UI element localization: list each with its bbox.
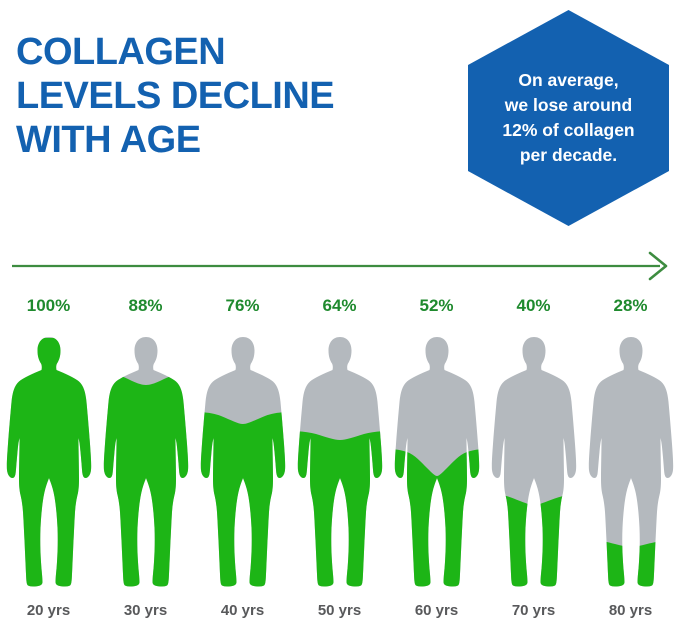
age-label: 60 yrs bbox=[415, 602, 458, 620]
age-label: 50 yrs bbox=[318, 602, 361, 620]
figure-column: 64% 50 yrs bbox=[291, 296, 388, 628]
body-icon bbox=[391, 334, 483, 590]
age-label: 20 yrs bbox=[27, 602, 70, 620]
title-line-3: WITH AGE bbox=[16, 118, 446, 162]
body-silhouette bbox=[488, 334, 580, 590]
age-label: 30 yrs bbox=[124, 602, 167, 620]
title-line-1: COLLAGEN bbox=[16, 30, 446, 74]
age-label: 70 yrs bbox=[512, 602, 555, 620]
figure-column: 76% 40 yrs bbox=[194, 296, 291, 628]
figure-column: 40% 70 yrs bbox=[485, 296, 582, 628]
title-line-2: LEVELS DECLINE bbox=[16, 74, 446, 118]
age-label: 40 yrs bbox=[221, 602, 264, 620]
percent-label: 40% bbox=[516, 296, 550, 318]
body-icon bbox=[3, 334, 95, 590]
percent-label: 76% bbox=[225, 296, 259, 318]
figure-column: 100% 20 yrs bbox=[0, 296, 97, 628]
body-icon bbox=[197, 334, 289, 590]
figure-column: 52% 60 yrs bbox=[388, 296, 485, 628]
age-label: 80 yrs bbox=[609, 602, 652, 620]
body-silhouette bbox=[391, 334, 483, 590]
percent-label: 28% bbox=[613, 296, 647, 318]
body-silhouette bbox=[585, 334, 677, 590]
body-icon bbox=[100, 334, 192, 590]
percent-label: 64% bbox=[322, 296, 356, 318]
page-title: COLLAGEN LEVELS DECLINE WITH AGE bbox=[16, 30, 446, 162]
body-icon bbox=[585, 334, 677, 590]
body-silhouette bbox=[3, 334, 95, 590]
hexagon-icon bbox=[466, 8, 671, 228]
percent-label: 88% bbox=[128, 296, 162, 318]
fact-badge: On average, we lose around 12% of collag… bbox=[466, 8, 671, 228]
figure-column: 28% 80 yrs bbox=[582, 296, 679, 628]
percent-label: 52% bbox=[419, 296, 453, 318]
age-progression-arrow-icon bbox=[10, 248, 670, 284]
body-silhouette bbox=[197, 334, 289, 590]
body-silhouette bbox=[294, 334, 386, 590]
body-silhouette bbox=[100, 334, 192, 590]
body-icon bbox=[294, 334, 386, 590]
body-icon bbox=[488, 334, 580, 590]
percent-label: 100% bbox=[27, 296, 70, 318]
collagen-figure-series: 100% 20 yrs 88% bbox=[0, 296, 679, 628]
figure-column: 88% 30 yrs bbox=[97, 296, 194, 628]
